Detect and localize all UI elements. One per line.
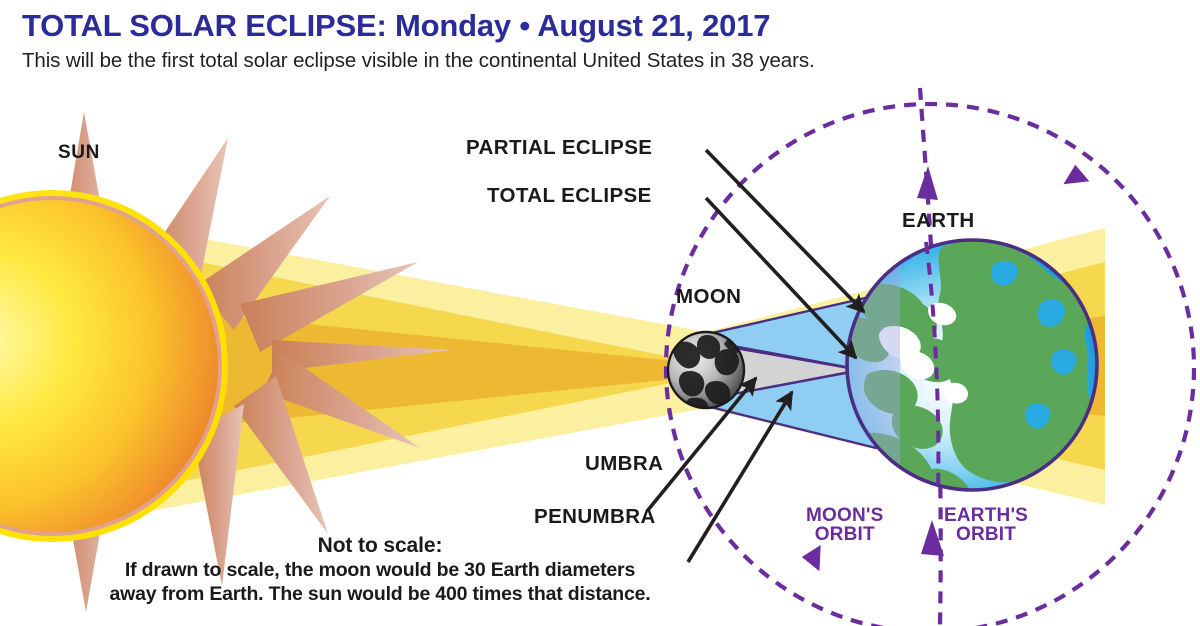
- label-penumbra: PENUMBRA: [534, 505, 656, 529]
- label-total-eclipse: TOTAL ECLIPSE: [487, 184, 652, 208]
- label-earths-orbit-line1: EARTH'S: [944, 506, 1028, 525]
- label-moons-orbit: MOON'S ORBIT: [806, 506, 884, 545]
- footnote-line-1: If drawn to scale, the moon would be 30 …: [0, 559, 760, 582]
- eclipse-infographic: TOTAL SOLAR ECLIPSE: Monday • August 21,…: [0, 0, 1200, 626]
- label-moons-orbit-line2: ORBIT: [806, 525, 884, 544]
- label-earths-orbit: EARTH'S ORBIT: [944, 506, 1028, 545]
- label-moon: MOON: [676, 285, 741, 309]
- page-subtitle: This will be the first total solar eclip…: [22, 49, 815, 73]
- moon-orbit-arrow-icon: [1063, 163, 1092, 191]
- footnote-not-to-scale: Not to scale: If drawn to scale, the moo…: [0, 534, 760, 605]
- label-earth: EARTH: [902, 209, 975, 233]
- moon-orbit-arrow-icon: [801, 545, 824, 573]
- page-title: TOTAL SOLAR ECLIPSE: Monday • August 21,…: [22, 8, 770, 44]
- label-partial-eclipse: PARTIAL ECLIPSE: [466, 136, 652, 160]
- label-umbra: UMBRA: [585, 452, 663, 476]
- footnote-line-2: away from Earth. The sun would be 400 ti…: [0, 583, 760, 606]
- label-sun: SUN: [58, 142, 100, 164]
- earth-orbit-arrow-icon: [917, 166, 938, 200]
- label-earths-orbit-line2: ORBIT: [944, 525, 1028, 544]
- footnote-heading: Not to scale:: [0, 534, 760, 558]
- label-moons-orbit-line1: MOON'S: [806, 506, 884, 525]
